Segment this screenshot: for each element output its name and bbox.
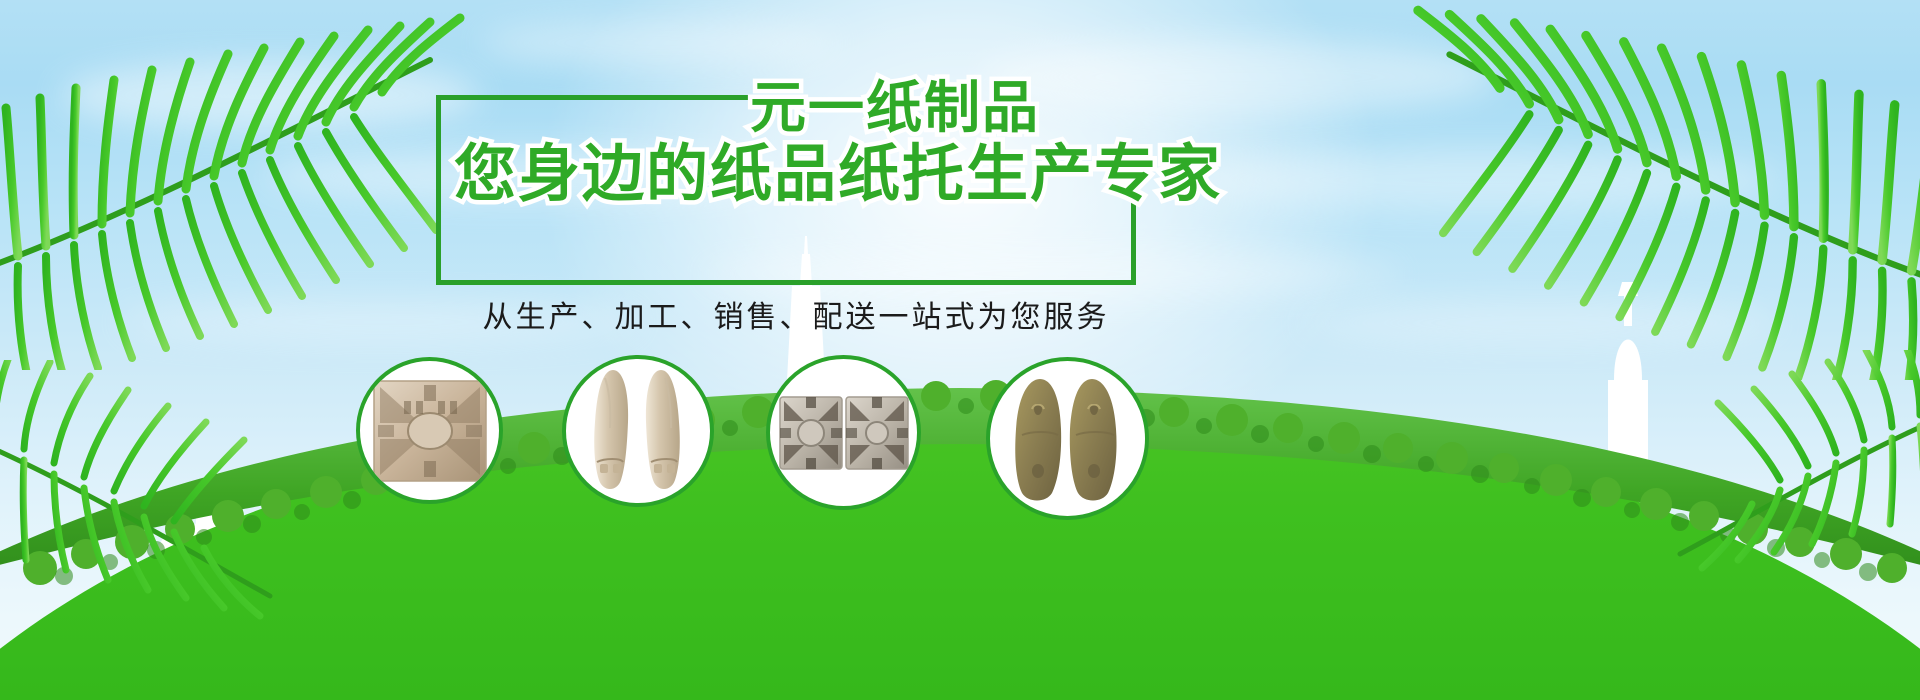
palm-frond-icon: [1390, 0, 1920, 380]
product-circle-4[interactable]: [986, 357, 1149, 520]
headline-line-2: 您身边的纸品纸托生产专家: [454, 144, 1156, 206]
palm-frond-icon: [1670, 350, 1920, 610]
product-circle-1[interactable]: [356, 357, 503, 504]
promo-banner: 元一纸制品 您身边的纸品纸托生产专家 从生产、加工、销售、配送一站式为您服务: [0, 0, 1920, 700]
palm-frond-icon: [0, 0, 480, 370]
cloud-wisp: [480, 20, 840, 66]
paper-pulp-shoe-last-pair-icon: [1008, 375, 1128, 503]
paper-pulp-shoe-tree-pair-icon: [583, 364, 693, 498]
frame-bottom-rule: [436, 280, 1136, 285]
headline-line-1: 元一纸制品: [634, 80, 1156, 136]
palm-frond-icon: [0, 360, 280, 660]
headline-group: 元一纸制品 您身边的纸品纸托生产专家: [436, 80, 1156, 206]
paper-pulp-tray-square-icon: [370, 375, 490, 487]
product-circle-2[interactable]: [562, 355, 714, 507]
subtitle: 从生产、加工、销售、配送一站式为您服务: [436, 292, 1156, 336]
paper-pulp-corner-protector-pair-icon: [778, 393, 910, 473]
product-circle-3[interactable]: [766, 355, 921, 510]
